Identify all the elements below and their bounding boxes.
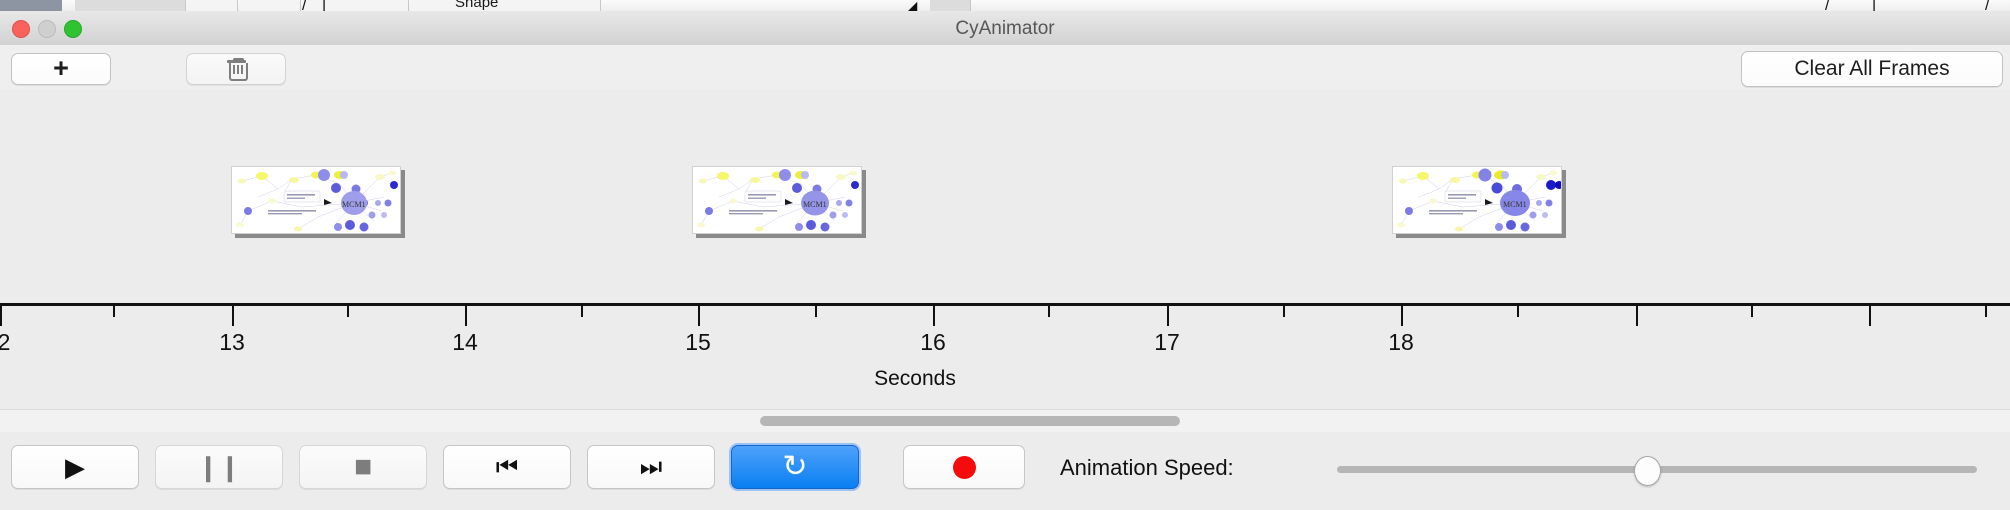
axis-tick-minor (1283, 306, 1285, 317)
trash-icon (227, 58, 246, 80)
svg-text:MCM1: MCM1 (1503, 200, 1527, 209)
axis-tick-minor (1517, 306, 1519, 317)
axis-tick-label: 13 (219, 329, 245, 356)
pause-button[interactable]: ❙❙ (155, 445, 283, 489)
background-app-segment (930, 0, 971, 11)
axis-tick-minor (1985, 306, 1987, 317)
skip-to-start-button[interactable]: ⏮ (443, 445, 571, 489)
axis-tick (1636, 306, 1638, 326)
axis-tick-label: 16 (920, 329, 946, 356)
axis-tick (1401, 306, 1403, 326)
toolbar: + Clear All Frames (0, 45, 2010, 90)
delete-frame-button[interactable] (186, 53, 286, 85)
clear-all-frames-label: Clear All Frames (1794, 57, 1949, 81)
axis-tick (698, 306, 700, 326)
animation-speed-slider-thumb[interactable] (1634, 456, 1661, 486)
timeline-scrollbar-track[interactable] (0, 409, 2010, 433)
skip-previous-icon: ⏮ (496, 455, 519, 480)
axis-tick (465, 306, 467, 326)
axis-tick-label: 14 (452, 329, 478, 356)
animation-speed-label: Animation Speed: (1060, 455, 1234, 481)
pause-icon: ❙❙ (197, 454, 241, 480)
axis-tick-minor (815, 306, 817, 317)
plus-icon: + (53, 55, 69, 82)
svg-text:MCM1: MCM1 (342, 200, 366, 209)
timeline-panel[interactable]: MCM1 (0, 89, 2010, 409)
axis-tick-minor (1751, 306, 1753, 317)
play-icon: ▶ (65, 454, 85, 480)
record-icon (953, 456, 976, 479)
stop-icon: ■ (354, 452, 372, 482)
window-title: CyAnimator (0, 18, 2010, 40)
timeline-scrollbar-thumb[interactable] (760, 416, 1180, 426)
axis-title: Seconds (0, 367, 1830, 391)
axis-tick-label: 15 (685, 329, 711, 356)
skip-next-icon: ⏭ (640, 455, 663, 480)
axis-tick-minor (113, 306, 115, 317)
loop-button[interactable]: ↻ (731, 445, 859, 489)
background-app-label: Shape (455, 0, 498, 11)
background-app-segment (303, 0, 409, 11)
window-titlebar: CyAnimator (0, 11, 2010, 46)
add-frame-button[interactable]: + (11, 53, 111, 85)
loop-icon: ↻ (782, 452, 807, 482)
background-app-segment (187, 0, 238, 11)
clear-all-frames-button[interactable]: Clear All Frames (1741, 51, 2003, 87)
axis-tick (0, 306, 2, 326)
record-button[interactable] (903, 445, 1025, 489)
background-app-segment (75, 0, 186, 11)
axis-tick-label: 2 (0, 329, 10, 356)
frame-thumbnail-1[interactable]: MCM1 (231, 166, 401, 234)
playback-control-bar: ▶ ❙❙ ■ ⏮ ⏭ ↻ Animation Speed: (0, 432, 2010, 510)
axis-tick-label: 18 (1388, 329, 1414, 356)
frame-thumbnail-3[interactable]: MCM1 (1392, 166, 1562, 234)
axis-tick (933, 306, 935, 326)
background-app-segment (410, 0, 601, 11)
stop-button[interactable]: ■ (299, 445, 427, 489)
svg-text:MCM1: MCM1 (803, 200, 827, 209)
skip-to-end-button[interactable]: ⏭ (587, 445, 715, 489)
background-app-segment (240, 0, 301, 11)
axis-tick (1167, 306, 1169, 326)
cyanimator-window: Shape / | ◢ / | / CyAnimator + Clear All… (0, 0, 2010, 510)
axis-tick-minor (581, 306, 583, 317)
background-app-tab (0, 0, 62, 11)
frame-thumbnail-2[interactable]: MCM1 (692, 166, 862, 234)
axis-tick-minor (1048, 306, 1050, 317)
timeline-axis (0, 303, 2010, 306)
axis-tick-minor (347, 306, 349, 317)
play-button[interactable]: ▶ (11, 445, 139, 489)
axis-tick (1869, 306, 1871, 326)
axis-tick (232, 306, 234, 326)
axis-tick-label: 17 (1154, 329, 1180, 356)
